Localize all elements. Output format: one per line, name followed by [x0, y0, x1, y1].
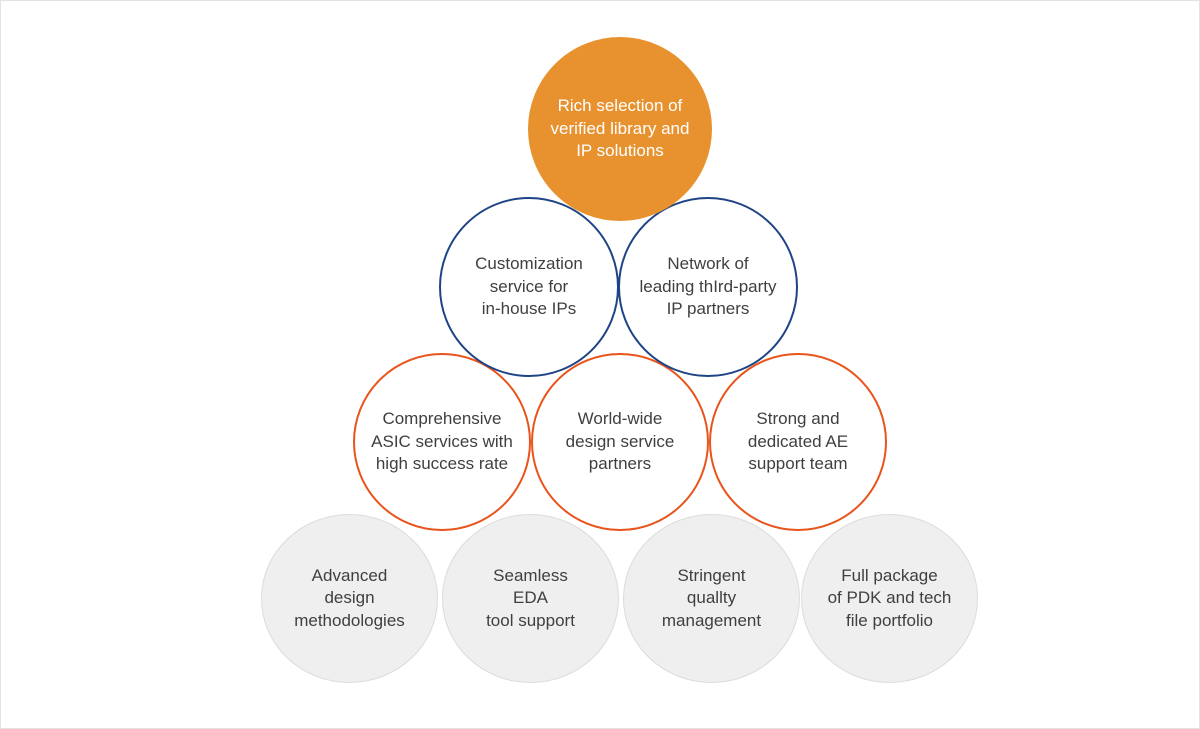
node-label: World-wide design service partners	[560, 408, 681, 476]
node-customization-service[interactable]: Customization service for in-house IPs	[439, 197, 619, 377]
node-quality-management[interactable]: Stringent quallty management	[623, 514, 800, 683]
node-eda-tool-support[interactable]: Seamless EDA tool support	[442, 514, 619, 683]
node-advanced-methodologies[interactable]: Advanced design methodologies	[261, 514, 438, 683]
node-label: Comprehensive ASIC services with high su…	[365, 408, 519, 476]
node-label: Strong and dedicated AE support team	[742, 408, 854, 476]
node-label: Customization service for in-house IPs	[469, 253, 589, 321]
node-pdk-tech-file[interactable]: Full package of PDK and tech file portfo…	[801, 514, 978, 683]
node-rich-selection[interactable]: Rich selection of verified library and I…	[528, 37, 712, 221]
node-label: Rich selection of verified library and I…	[545, 95, 696, 163]
node-third-party-network[interactable]: Network of leading thIrd-party IP partne…	[618, 197, 798, 377]
node-label: Full package of PDK and tech file portfo…	[822, 565, 958, 633]
node-label: Advanced design methodologies	[288, 565, 411, 633]
diagram-canvas: Advanced design methodologies Seamless E…	[0, 0, 1200, 729]
node-label: Seamless EDA tool support	[480, 565, 581, 633]
node-ae-support[interactable]: Strong and dedicated AE support team	[709, 353, 887, 531]
node-comprehensive-asic[interactable]: Comprehensive ASIC services with high su…	[353, 353, 531, 531]
node-label: Network of leading thIrd-party IP partne…	[633, 253, 782, 321]
node-label: Stringent quallty management	[656, 565, 767, 633]
node-worldwide-design[interactable]: World-wide design service partners	[531, 353, 709, 531]
